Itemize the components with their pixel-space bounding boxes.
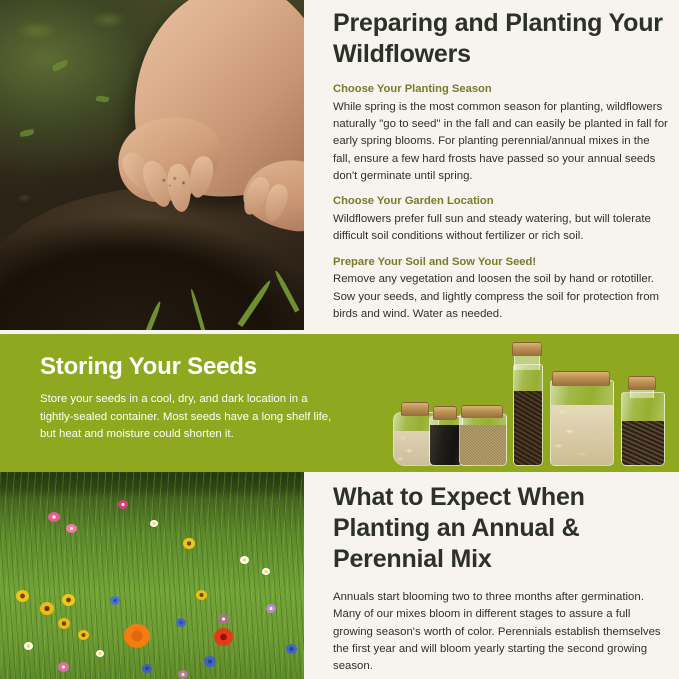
flower-yellow-1 [183, 538, 195, 549]
jar-glass [459, 414, 507, 466]
flower-magenta-1 [118, 500, 128, 509]
jar-large-pumpkin-seeds [550, 366, 612, 466]
flower-pink-1 [48, 512, 60, 522]
section-preparing-and-planting: Preparing and Planting Your Wildflowers … [0, 0, 679, 334]
section-storing-your-seeds: Storing Your Seeds Store your seeds in a… [0, 334, 679, 472]
flower-cornflower-4 [286, 644, 297, 654]
flower-cornflower-3 [204, 656, 216, 667]
jar-contents-pumpkin-seeds [551, 405, 613, 465]
flower-cornflower-2 [176, 618, 186, 627]
wildflower-info-graphic: Preparing and Planting Your Wildflowers … [0, 0, 679, 679]
preparing-text-column: Preparing and Planting Your Wildflowers … [333, 8, 669, 323]
jar-cork-lid [552, 371, 610, 386]
page-title-storing: Storing Your Seeds [40, 354, 332, 380]
jar-tall-dark-seeds [513, 348, 541, 466]
jar-glass [621, 392, 665, 466]
paragraph-garden-location: Wildflowers prefer full sun and steady w… [333, 211, 669, 246]
storing-text-column: Storing Your Seeds Store your seeds in a… [40, 354, 332, 443]
flower-white-5 [96, 650, 104, 657]
jar-contents-sunflower-seeds [622, 421, 664, 465]
jar-glass [429, 416, 463, 466]
flower-yellow-7 [78, 630, 89, 640]
flower-cornflower-1 [110, 596, 120, 605]
paragraph-planting-season: While spring is the most common season f… [333, 99, 669, 186]
paragraph-prepare-soil: Remove any vegetation and loosen the soi… [333, 271, 669, 323]
photo-wildflower-meadow [0, 472, 304, 679]
jar-cork-lid [512, 342, 542, 356]
flower-orange-poppy [124, 624, 150, 648]
jar-sunflower-seeds [621, 378, 663, 466]
jar-cork-lid [401, 402, 429, 416]
subheading-planting-season: Choose Your Planting Season [333, 82, 669, 98]
paragraph-storing: Store your seeds in a cool, dry, and dar… [40, 391, 332, 443]
page-title-what-to-expect: What to Expect When Planting an Annual &… [333, 482, 669, 575]
flower-white-1 [150, 520, 158, 527]
flower-yellow-6 [58, 618, 70, 629]
flower-yellow-4 [40, 602, 54, 615]
jar-cork-lid [433, 406, 457, 420]
paragraph-what-to-expect: Annuals start blooming two to three mont… [333, 589, 669, 676]
flower-white-3 [262, 568, 270, 575]
subheading-garden-location: Choose Your Garden Location [333, 194, 669, 210]
flower-yellow-3 [16, 590, 29, 602]
flower-lavender-1 [266, 604, 276, 613]
meadow-grass-texture [0, 472, 304, 679]
flower-red-poppy [214, 628, 233, 646]
flower-yellow-5 [62, 594, 75, 606]
jar-glass [550, 380, 614, 466]
flower-cornflower-5 [142, 664, 152, 673]
flower-mauve-2 [178, 670, 188, 679]
flower-mauve-1 [218, 614, 229, 624]
section-what-to-expect: What to Expect When Planting an Annual &… [0, 472, 679, 679]
flower-yellow-2 [196, 590, 207, 600]
photo-hands-sowing-seeds [0, 0, 304, 330]
flower-white-4 [24, 642, 33, 650]
jar-contents-black-seeds [430, 425, 462, 465]
jar-cork-lid [461, 405, 503, 418]
photo-seed-storage-jars [385, 342, 675, 472]
jar-contents-dark-seeds [514, 391, 542, 465]
expect-text-column: What to Expect When Planting an Annual &… [333, 482, 669, 676]
jar-glass [513, 364, 543, 466]
flower-pink-3 [58, 662, 69, 672]
flower-white-2 [240, 556, 249, 564]
subheading-prepare-soil: Prepare Your Soil and Sow Your Seed! [333, 255, 669, 271]
jar-black-seeds [429, 404, 461, 466]
flower-pink-2 [66, 524, 77, 533]
seeds-in-palm [157, 173, 191, 191]
jar-contents-fine-tan-seed [460, 425, 506, 465]
jar-fine-tan-seed [459, 398, 505, 466]
page-title-preparing: Preparing and Planting Your Wildflowers [333, 8, 669, 70]
jar-cork-lid [628, 376, 656, 390]
